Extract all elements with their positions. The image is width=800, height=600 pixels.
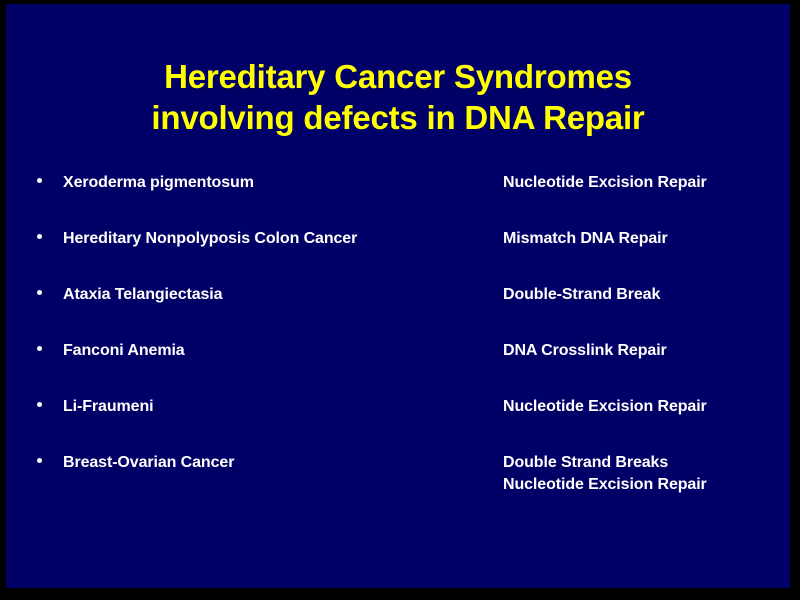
list-item: Fanconi Anemia DNA Crosslink Repair [6,340,790,396]
syndrome-name: Fanconi Anemia [63,340,185,362]
slide-canvas: Hereditary Cancer Syndromes involving de… [6,4,790,588]
bullet-icon [37,234,42,239]
syndrome-name: Breast-Ovarian Cancer [63,452,234,474]
list-item: Li-Fraumeni Nucleotide Excision Repair [6,396,790,452]
list-item: Hereditary Nonpolyposis Colon Cancer Mis… [6,228,790,284]
bullet-icon [37,402,42,407]
list-item: Breast-Ovarian Cancer Double Strand Brea… [6,452,790,536]
list-item: Xeroderma pigmentosum Nucleotide Excisio… [6,172,790,228]
syndrome-name: Ataxia Telangiectasia [63,284,222,306]
repair-pathway: Double Strand Breaks Nucleotide Excision… [503,452,707,496]
syndrome-name: Hereditary Nonpolyposis Colon Cancer [63,228,357,250]
syndrome-name: Xeroderma pigmentosum [63,172,254,194]
repair-pathway: DNA Crosslink Repair [503,340,667,362]
syndrome-name: Li-Fraumeni [63,396,153,418]
syndrome-list: Xeroderma pigmentosum Nucleotide Excisio… [6,172,790,536]
repair-pathway: Nucleotide Excision Repair [503,172,707,194]
page-title: Hereditary Cancer Syndromes involving de… [6,56,790,138]
bullet-icon [37,178,42,183]
repair-pathway: Mismatch DNA Repair [503,228,668,250]
bullet-icon [37,346,42,351]
list-item: Ataxia Telangiectasia Double-Strand Brea… [6,284,790,340]
slide-frame: Hereditary Cancer Syndromes involving de… [0,0,800,600]
bullet-icon [37,290,42,295]
bullet-icon [37,458,42,463]
repair-pathway: Nucleotide Excision Repair [503,396,707,418]
repair-pathway: Double-Strand Break [503,284,660,306]
